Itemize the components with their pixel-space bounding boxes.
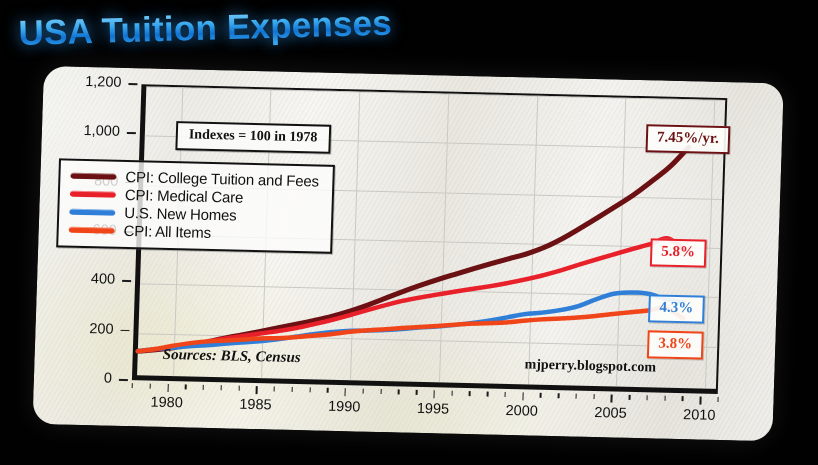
x-minor-tick (274, 387, 276, 392)
x-minor-tick (593, 394, 595, 399)
page-title: USA Tuition Expenses (18, 4, 392, 54)
x-minor-tick (203, 385, 205, 390)
x-minor-tick (629, 395, 631, 400)
x-minor-tick (185, 384, 187, 389)
x-minor-tick (309, 387, 311, 392)
x-minor-tick (345, 388, 347, 396)
legend-label-medical: CPI: Medical Care (125, 186, 244, 206)
y-tick-mark (122, 280, 131, 282)
x-tick-label: 2005 (594, 405, 627, 422)
chart-legend: CPI: College Tuition and Fees CPI: Medic… (56, 158, 335, 253)
x-minor-tick (682, 396, 684, 401)
slide-panel: 02004006008001,0001,200 1980198519901995… (32, 66, 783, 441)
x-minor-tick (700, 397, 702, 405)
y-tick-label: 1,000 (83, 123, 120, 140)
x-minor-tick (664, 396, 666, 401)
x-minor-tick (327, 388, 329, 393)
x-tick-label: 1985 (239, 397, 272, 414)
x-minor-tick (362, 389, 364, 394)
x-minor-tick (611, 394, 613, 402)
x-minor-tick (149, 384, 151, 389)
legend-label-homes: U.S. New Homes (124, 204, 237, 224)
blog-url[interactable]: mjperry.blogspot.com (524, 357, 656, 376)
x-tick-label: 2010 (683, 407, 716, 424)
callout-medical-rate: 5.8% (650, 238, 707, 267)
source-credit: Sources: BLS, Census (162, 347, 300, 367)
y-tick-mark (119, 379, 128, 381)
y-tick-mark (128, 83, 137, 85)
legend-label-allitems: CPI: All Items (123, 222, 211, 241)
screenshot-stage: USA Tuition Expenses USA Tuition Expense… (0, 0, 818, 465)
x-minor-tick (558, 393, 560, 398)
callout-homes-rate: 4.3% (648, 294, 705, 323)
callout-allitems-rate: 3.8% (647, 330, 704, 359)
x-minor-tick (575, 394, 577, 399)
x-minor-tick (380, 389, 382, 394)
x-minor-tick (522, 392, 524, 400)
y-tick-mark (127, 132, 136, 134)
x-tick-label: 2000 (505, 403, 538, 420)
x-minor-tick (416, 390, 418, 395)
legend-swatch-homes (69, 209, 115, 216)
x-minor-tick (238, 386, 240, 391)
x-minor-tick (540, 393, 542, 398)
x-tick-label: 1990 (328, 399, 361, 416)
y-tick-label: 200 (89, 321, 114, 338)
x-tick-label: 1980 (150, 395, 183, 412)
legend-swatch-allitems (69, 227, 115, 234)
x-minor-tick (291, 387, 293, 392)
callout-tuition-rate: 7.45%/yr. (646, 124, 731, 154)
x-minor-tick (504, 392, 506, 397)
x-minor-tick (469, 391, 471, 396)
x-minor-tick (132, 383, 134, 388)
x-minor-tick (487, 392, 489, 397)
chart-canvas: 02004006008001,0001,200 1980198519901995… (32, 66, 783, 441)
x-minor-tick (398, 389, 400, 394)
y-tick-mark (120, 330, 129, 332)
x-axis: 1980198519901995200020052010 (44, 66, 784, 83)
index-note-box: Indexes = 100 in 1978 (175, 121, 330, 154)
legend-swatch-tuition (70, 173, 116, 180)
y-tick-label: 400 (91, 271, 116, 288)
x-minor-tick (451, 391, 453, 396)
x-tick-label: 1995 (417, 401, 450, 418)
y-tick-label: 0 (104, 371, 113, 387)
legend-swatch-medical (70, 191, 116, 198)
x-minor-tick (717, 397, 719, 402)
x-minor-tick (220, 385, 222, 390)
x-minor-tick (646, 395, 648, 400)
x-minor-tick (256, 386, 258, 394)
x-minor-tick (433, 390, 435, 398)
x-minor-tick (167, 384, 169, 392)
y-tick-label: 1,200 (85, 74, 122, 91)
